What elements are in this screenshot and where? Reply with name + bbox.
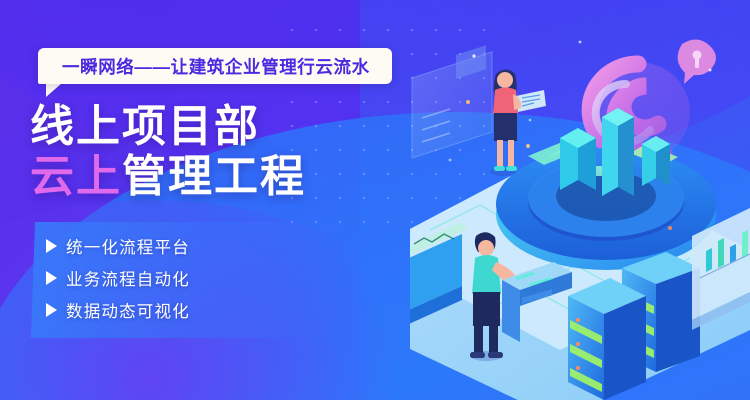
feature-item: 业务流程自动化 [46,266,190,290]
headline-group: 线上项目部 云上管理工程 [30,104,306,200]
server-rack-front [568,278,646,400]
feature-label: 业务流程自动化 [66,266,190,290]
feature-item: 统一化流程平台 [46,234,190,258]
tagline-bubble: 一瞬网络——让建筑企业管理行云流水 [38,48,392,84]
tagline-text: 一瞬网络——让建筑企业管理行云流水 [62,54,370,79]
data-panel [412,45,492,158]
feature-label: 数据动态可视化 [66,298,190,322]
triangle-bullet-icon [46,303,57,317]
lock-bubble-badge [678,39,716,84]
feature-item: 数据动态可视化 [46,298,190,322]
headline-line-2: 云上管理工程 [30,154,306,200]
promo-banner: 一瞬网络——让建筑企业管理行云流水 线上项目部 云上管理工程 统一化流程平台 业… [0,0,750,400]
tagline-bubble-tail [46,83,62,97]
spiral-swirl-logo [586,62,690,162]
triangle-bullet-icon [46,239,57,253]
headline-accent-text: 云上 [30,152,122,201]
isometric-illustration [410,0,750,400]
feature-label: 统一化流程平台 [66,234,190,258]
triangle-bullet-icon [46,271,57,285]
feature-list: 统一化流程平台 业务流程自动化 数据动态可视化 [46,234,190,322]
headline-rest-text: 管理工程 [122,152,306,201]
headline-line-1: 线上项目部 [30,104,306,150]
